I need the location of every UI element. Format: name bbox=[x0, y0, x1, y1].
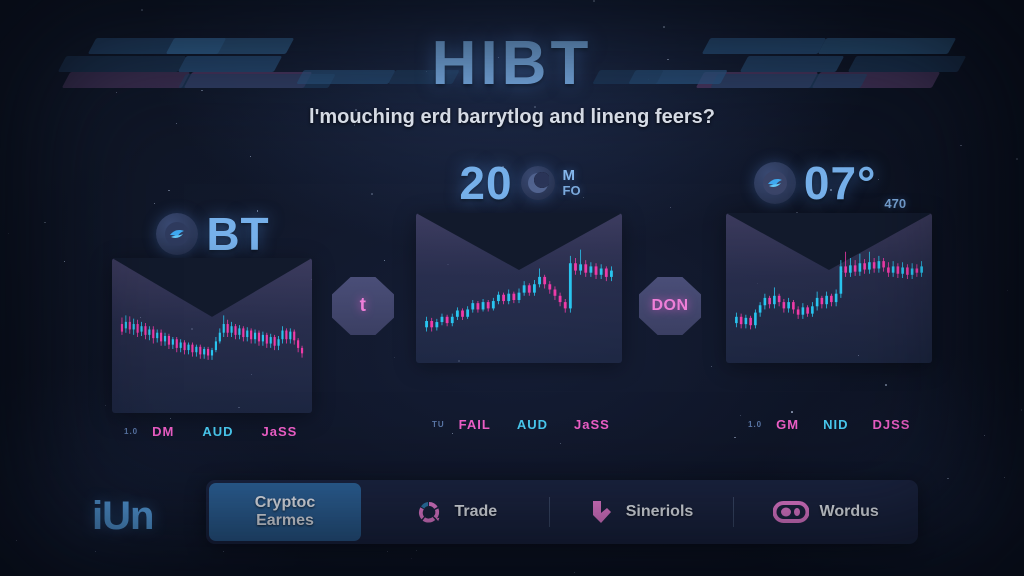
bird-coin-icon bbox=[156, 213, 198, 255]
don-badge: DON bbox=[639, 277, 701, 335]
bird-coin-icon bbox=[754, 162, 796, 204]
card-header: 07° 470 bbox=[722, 155, 938, 211]
tab-label: Cryptoc Earmes bbox=[255, 494, 315, 531]
tab-label: Trade bbox=[454, 503, 497, 521]
axis-label-2: AUD bbox=[202, 424, 233, 439]
chart-axis-labels: 1.0 GM NID DJSS bbox=[748, 417, 910, 432]
axis-label-3: JaSS bbox=[574, 417, 610, 432]
axis-label-2: NID bbox=[823, 417, 848, 432]
axis-label-3: DJSS bbox=[872, 417, 910, 432]
page-subtitle: l'mouching erd barrytlog and lineng feer… bbox=[0, 106, 1024, 129]
card-title: BT bbox=[206, 211, 269, 257]
card-sub-primary: M bbox=[563, 168, 576, 184]
chart-axis-labels: 1.0 DM AUD JaSS bbox=[124, 424, 297, 439]
card-header: 20 M FO bbox=[412, 155, 628, 211]
candlestick-series bbox=[726, 213, 932, 363]
axis-label-1: GM bbox=[776, 417, 799, 432]
tab-trade[interactable]: Trade bbox=[364, 480, 549, 544]
candlestick-panel bbox=[416, 213, 622, 363]
tab-crypto-earmes[interactable]: Cryptoc Earmes bbox=[209, 483, 361, 541]
tab-label: Wordus bbox=[820, 503, 879, 521]
badge-label: DON bbox=[651, 297, 688, 315]
chart-axis-labels: TU FAIL AUD JaSS bbox=[432, 417, 610, 432]
card-title: 20 bbox=[459, 160, 512, 206]
refresh-circle-icon bbox=[415, 498, 443, 526]
badge-label: t bbox=[360, 295, 367, 317]
axis-label-3: JaSS bbox=[262, 424, 298, 439]
axis-label-1: DM bbox=[152, 424, 174, 439]
axis-label-2: AUD bbox=[517, 417, 548, 432]
card-subtitle: 470 bbox=[884, 197, 906, 211]
axis-tick: TU bbox=[432, 420, 445, 429]
tab-wordus[interactable]: Wordus bbox=[733, 480, 918, 544]
tab-sineriols[interactable]: Sineriols bbox=[549, 480, 734, 544]
card-subtitle: M FO bbox=[563, 168, 581, 197]
moon-coin-icon bbox=[521, 166, 555, 200]
candlestick-series bbox=[416, 213, 622, 363]
candlestick-panel bbox=[726, 213, 932, 363]
capsule-icon bbox=[773, 500, 809, 524]
bottom-nav: Cryptoc Earmes Trade Sine bbox=[206, 480, 918, 544]
card-sub-secondary: 470 bbox=[884, 197, 906, 211]
app-logo: iUn bbox=[92, 494, 153, 539]
axis-tick: 1.0 bbox=[124, 427, 138, 436]
tab-label: Sineriols bbox=[626, 503, 694, 521]
hero-graphic: HIBT l'mouching erd barrytlog and lineng… bbox=[0, 0, 1024, 576]
down-arrow-icon bbox=[589, 498, 615, 526]
candlestick-series bbox=[112, 258, 312, 413]
tether-badge: t bbox=[332, 277, 394, 335]
axis-tick: 1.0 bbox=[748, 420, 762, 429]
card-sub-secondary: FO bbox=[563, 184, 581, 198]
axis-label-1: FAIL bbox=[459, 417, 491, 432]
card-title: 07° bbox=[804, 160, 877, 206]
candlestick-panel bbox=[112, 258, 312, 413]
page-title: HIBT bbox=[0, 28, 1024, 99]
card-header: BT bbox=[108, 212, 318, 256]
